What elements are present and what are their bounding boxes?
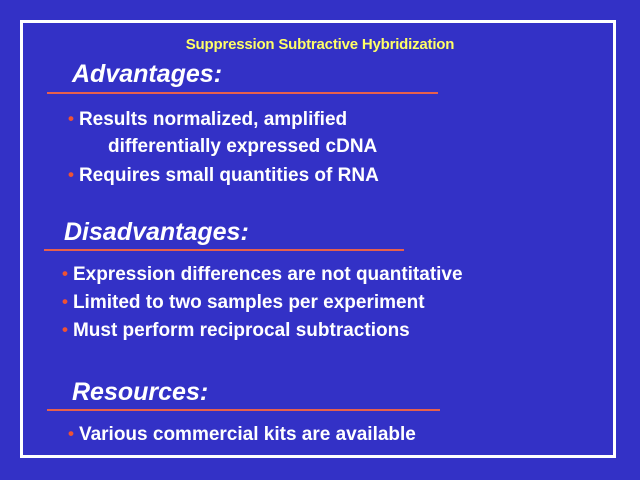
bullet-dot-icon: • [68,165,74,184]
bullet-text: Expression differences are not quantitat… [73,264,463,285]
section-heading-resources: Resources: [72,378,208,406]
bullet-dot-icon: • [68,109,74,128]
bullet-text: Must perform reciprocal subtractions [73,320,410,341]
slide-title: Suppression Subtractive Hybridization [0,36,640,54]
section-rule-disadvantages [44,249,404,251]
bullet-text: Requires small quantities of RNA [79,165,379,186]
bullet-text: Various commercial kits are available [79,424,416,445]
bullet-dot-icon: • [62,320,68,339]
section-heading-advantages: Advantages: [72,60,222,88]
section-heading-disadvantages: Disadvantages: [64,218,249,246]
bullet-dot-icon: • [68,424,74,443]
bullet-continuation-text: differentially expressed cDNA [108,136,377,158]
bullet-text: Results normalized, amplified [79,109,347,130]
bullet-dot-icon: • [62,292,68,311]
bullet-item: •Results normalized, amplified [68,108,347,131]
bullet-text: Limited to two samples per experiment [73,292,425,313]
bullet-item: •Expression differences are not quantita… [62,263,463,286]
bullet-item: •Requires small quantities of RNA [68,164,379,187]
slide-canvas: Suppression Subtractive Hybridization Ad… [0,0,640,480]
section-rule-resources [47,409,440,411]
bullet-dot-icon: • [62,264,68,283]
section-rule-advantages [47,92,438,94]
bullet-item: •Limited to two samples per experiment [62,291,425,314]
bullet-item: •Various commercial kits are available [68,423,416,446]
bullet-item: •Must perform reciprocal subtractions [62,319,410,342]
